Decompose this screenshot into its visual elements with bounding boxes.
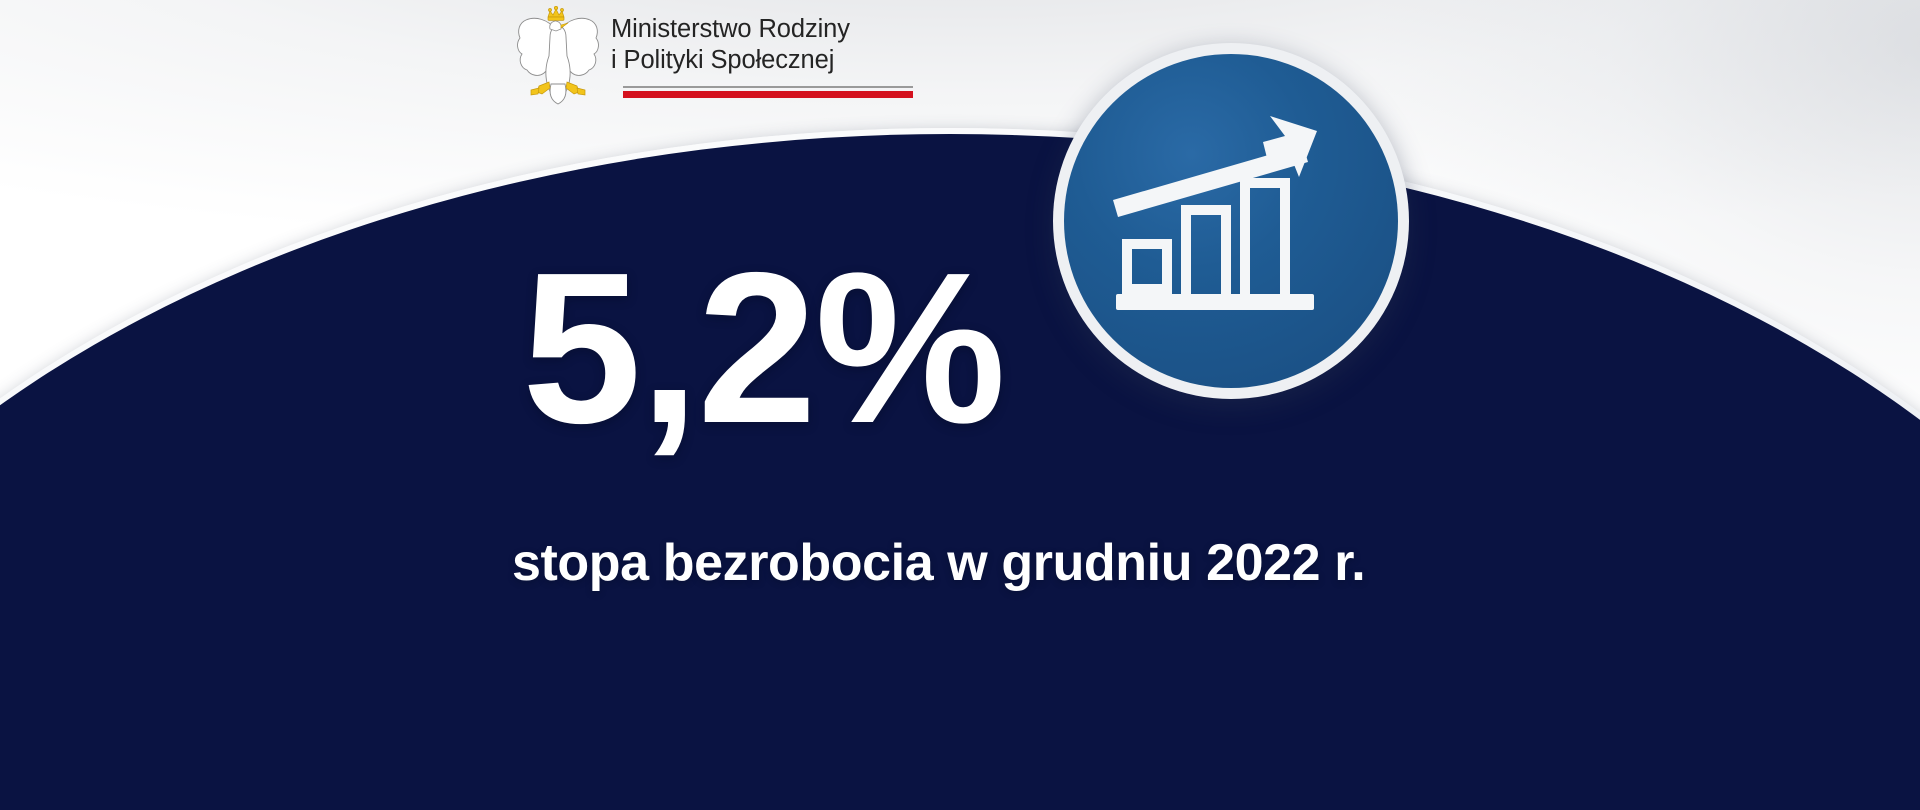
- page-title: 5,2%: [522, 240, 1004, 455]
- infographic-banner: Ministerstwo Rodziny i Polityki Społeczn…: [0, 0, 1920, 810]
- ministry-name-line-1: Ministerstwo Rodziny: [611, 14, 931, 45]
- ministry-logo-text: Ministerstwo Rodziny i Polityki Społeczn…: [611, 14, 931, 76]
- polish-eagle-emblem-icon: [515, 4, 601, 108]
- ministry-name-line-2: i Polityki Społecznej: [611, 45, 931, 76]
- chart-badge: [1053, 43, 1409, 399]
- bar-chart-rising-arrow-icon: [1064, 54, 1398, 388]
- ministry-logo: Ministerstwo Rodziny i Polityki Społeczn…: [515, 2, 935, 114]
- subtitle-text: stopa bezrobocia w grudniu 2022 r.: [512, 533, 1365, 593]
- logo-red-rule: [623, 91, 913, 98]
- logo-grey-rule: [623, 86, 913, 88]
